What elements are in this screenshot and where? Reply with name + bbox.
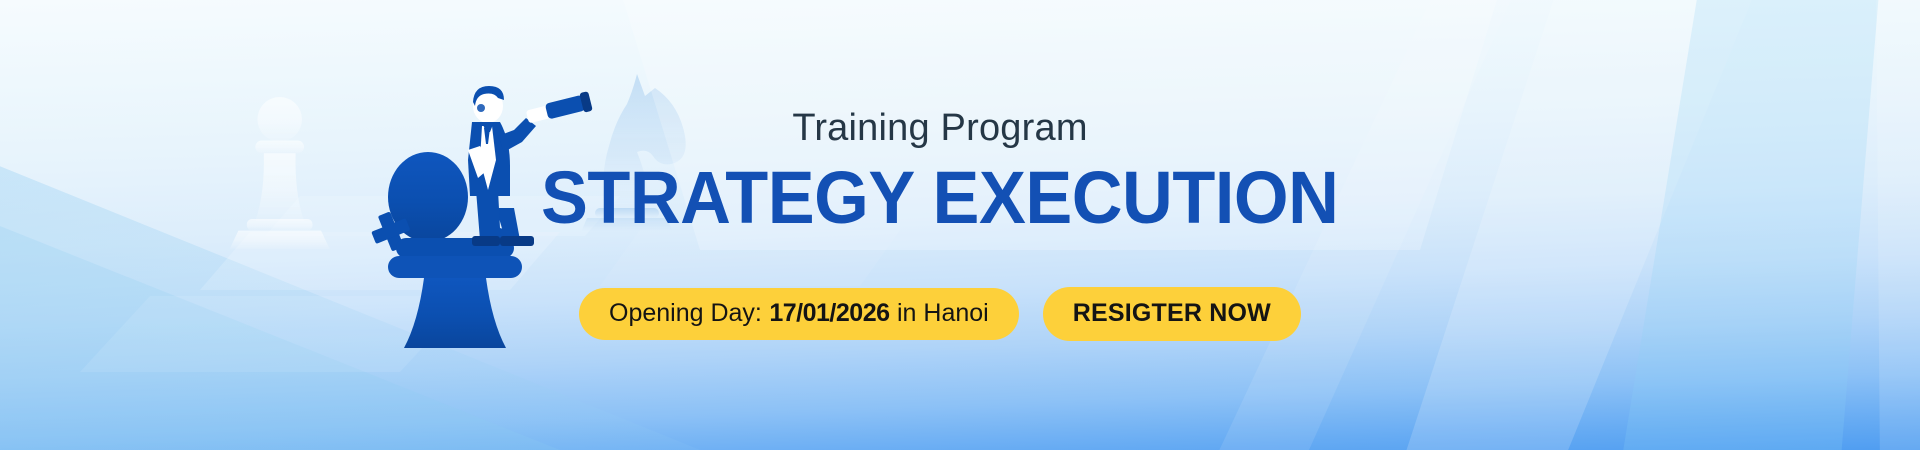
banner-eyebrow: Training Program bbox=[792, 109, 1087, 147]
banner-content: Training Program STRATEGY EXECUTION Open… bbox=[560, 0, 1320, 450]
opening-day-date: 17/01/2026 bbox=[769, 300, 889, 328]
chess-pawn-icon bbox=[230, 97, 330, 249]
page-title: STRATEGY EXECUTION bbox=[541, 161, 1338, 235]
cta-row: Opening Day: 17/01/2026 in Hanoi RESIGTE… bbox=[579, 287, 1301, 342]
opening-day-location: in Hanoi bbox=[897, 300, 989, 328]
register-now-button[interactable]: RESIGTER NOW bbox=[1043, 287, 1301, 342]
opening-day-badge: Opening Day: 17/01/2026 in Hanoi bbox=[579, 288, 1019, 341]
opening-day-label: Opening Day: bbox=[609, 300, 762, 328]
promo-banner: Training Program STRATEGY EXECUTION Open… bbox=[0, 0, 1920, 450]
chess-king-icon bbox=[367, 152, 522, 348]
